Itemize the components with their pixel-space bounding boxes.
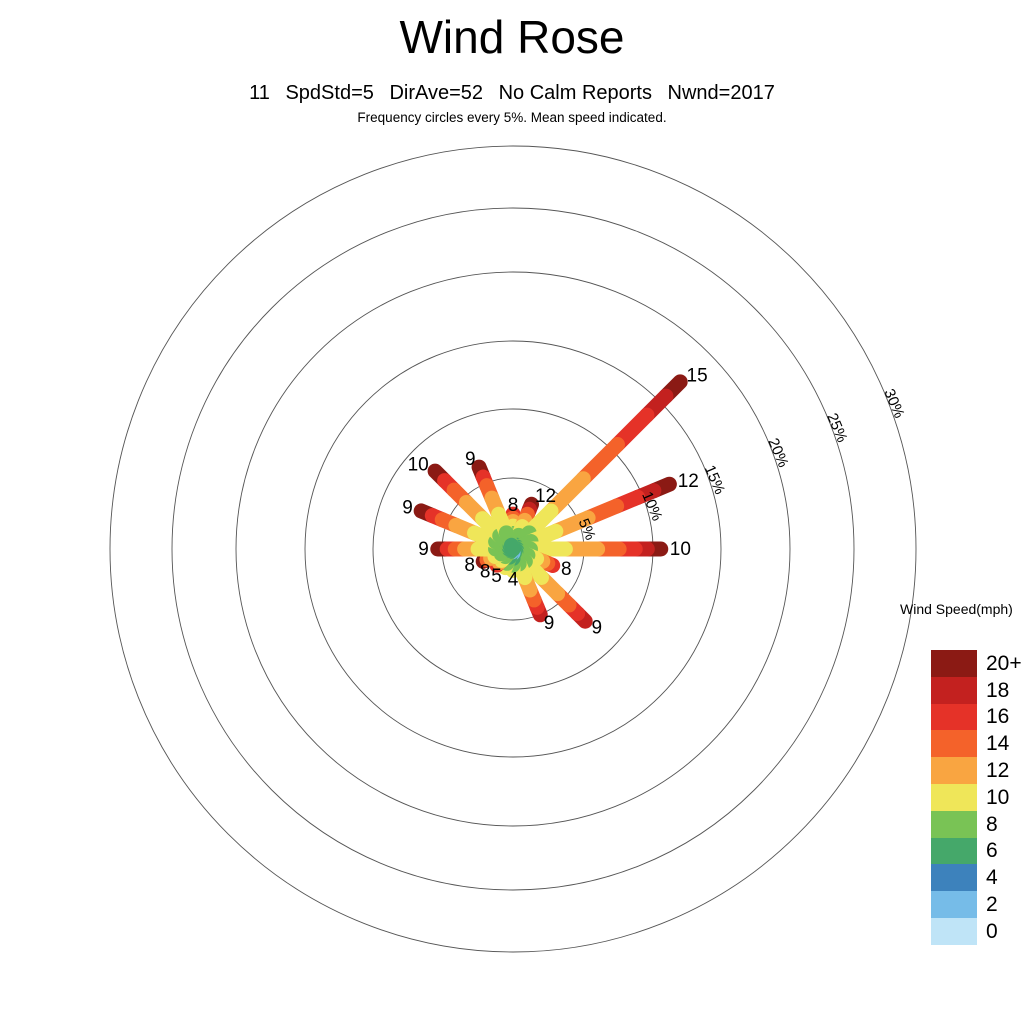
- mean-speed-label: 8: [480, 562, 491, 583]
- mean-speed-label: 10: [670, 539, 691, 560]
- legend-swatch: [931, 811, 977, 838]
- ring-label: 15%: [701, 463, 728, 497]
- legend-item: 20+: [931, 650, 1021, 677]
- legend-item: 4: [931, 864, 1021, 891]
- mean-speed-label: 9: [402, 498, 413, 519]
- ring-label: 20%: [764, 436, 791, 470]
- mean-speed-label: 4: [508, 569, 519, 590]
- legend-label: 0: [986, 921, 998, 942]
- legend-label: 16: [986, 706, 1009, 727]
- legend-item: 0: [931, 918, 1021, 945]
- mean-speed-label: 9: [465, 449, 476, 470]
- mean-speed-label: 15: [687, 365, 708, 386]
- mean-speed-label: 8: [561, 559, 572, 580]
- legend-label: 14: [986, 733, 1009, 754]
- mean-speed-label: 10: [408, 455, 429, 476]
- legend-swatch: [931, 730, 977, 757]
- legend-label: 20+: [986, 653, 1022, 674]
- mean-speed-label: 12: [535, 486, 556, 507]
- legend-label: 18: [986, 680, 1009, 701]
- legend-swatch: [931, 704, 977, 731]
- legend-label: 10: [986, 787, 1009, 808]
- legend-item: 2: [931, 891, 1021, 918]
- mean-speed-label: 5: [491, 566, 502, 587]
- legend-label: 4: [986, 867, 998, 888]
- mean-speed-label: 9: [418, 539, 429, 560]
- wind-rose-plot: 5%10%15%20%25%30% 812151210899458899109: [0, 0, 1024, 1024]
- mean-speed-label: 12: [678, 471, 699, 492]
- legend-swatch: [931, 677, 977, 704]
- legend-swatch: [931, 838, 977, 865]
- legend-swatch: [931, 864, 977, 891]
- legend-item: 18: [931, 677, 1021, 704]
- mean-speed-label: 8: [508, 495, 519, 516]
- legend-label: 2: [986, 894, 998, 915]
- legend-label: 8: [986, 814, 998, 835]
- legend-item: 14: [931, 730, 1021, 757]
- wind-rose-page: Wind Rose 11 SpdStd=5 DirAve=52 No Calm …: [0, 0, 1024, 1024]
- petal-segment: [511, 545, 513, 549]
- mean-speed-label: 8: [464, 555, 475, 576]
- ring-label: 25%: [823, 411, 850, 445]
- legend-item: 12: [931, 757, 1021, 784]
- legend-swatch: [931, 918, 977, 945]
- legend-item: 8: [931, 811, 1021, 838]
- ring-label: 30%: [880, 386, 907, 420]
- legend-label: 12: [986, 760, 1009, 781]
- legend-item: 16: [931, 704, 1021, 731]
- legend-label: 6: [986, 840, 998, 861]
- legend-item: 10: [931, 784, 1021, 811]
- legend-swatch: [931, 650, 977, 677]
- legend-title: Wind Speed(mph): [900, 602, 1024, 616]
- legend-swatch: [931, 891, 977, 918]
- legend-swatch: [931, 757, 977, 784]
- mean-speed-label: 9: [544, 613, 555, 634]
- legend-item: 6: [931, 838, 1021, 865]
- legend-swatch: [931, 784, 977, 811]
- mean-speed-label: 9: [592, 618, 603, 639]
- wind-speed-legend: 20+181614121086420: [931, 650, 1021, 945]
